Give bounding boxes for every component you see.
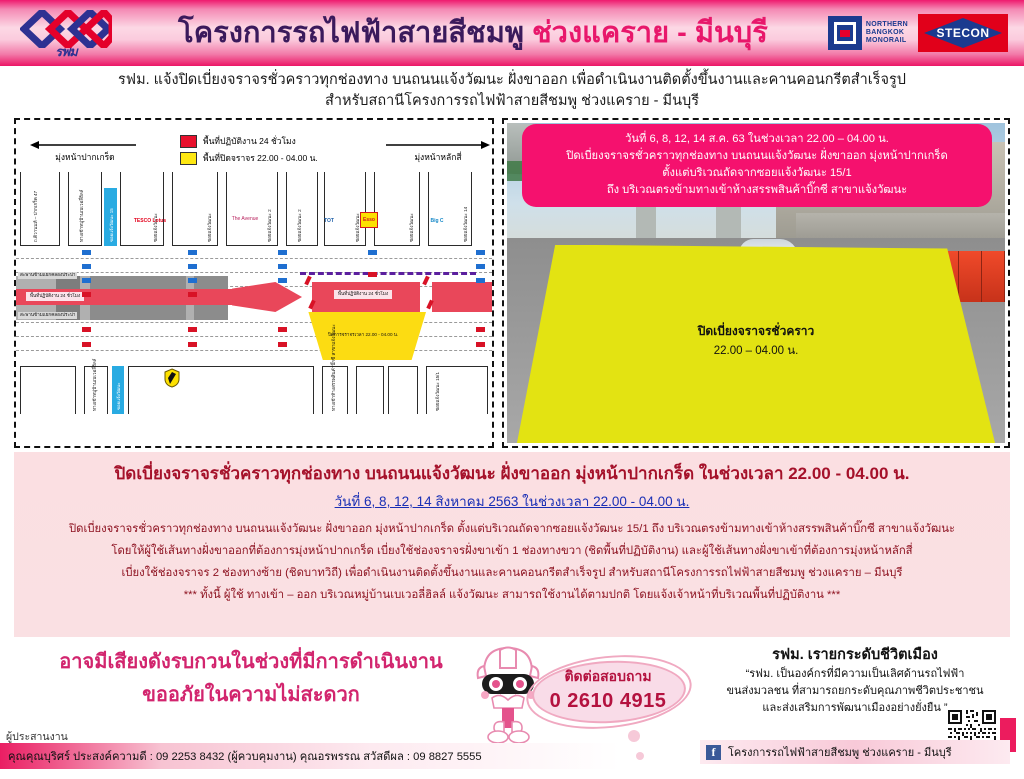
nbm-logo-text: NORTHERN BANGKOK MONORAIL — [866, 21, 908, 45]
nbm-line-2: BANGKOK — [866, 29, 908, 37]
shop-label-avenue: The Avenue — [224, 216, 266, 222]
announcement-page: รฟม โครงการรถไฟฟ้าสายสีชมพู ช่วงแคราย - … — [0, 0, 1024, 779]
mrta-logo: รฟม — [14, 4, 118, 62]
notice-body-line-3: เบี่ยงใช้ช่องจราจร 2 ช่องทางซ้าย (ชิดบาท… — [14, 563, 1010, 583]
map-block-top: ซอยแจ้งวัฒนะ — [324, 172, 366, 246]
street-label: ซอยแจ้งวัฒนะ 2 — [267, 209, 272, 242]
street-label: ซอยแจ้งวัฒนะ — [409, 213, 414, 242]
facebook-icon[interactable]: f — [706, 745, 721, 760]
photo-caption-line-1: ปิดเบี่ยงจราจรชั่วคราว — [507, 321, 1005, 341]
map-block-bottom: ซอยแจ้งวัฒนะ 15/1 — [426, 366, 488, 414]
traffic-arrow-red — [82, 292, 91, 297]
shop-label-bigc: Big C — [422, 218, 452, 224]
map-block-top: ซอยแจ้งวัฒนะ 2 — [286, 172, 318, 246]
traffic-arrow-red — [188, 327, 197, 332]
legend-swatch-yellow-icon — [180, 152, 197, 165]
map-block-bottom — [20, 366, 76, 414]
lane-divider — [16, 336, 492, 337]
street-label: ถ.ติวานนท์ – ปากเกร็ด 47 — [33, 191, 38, 242]
map-legend: มุ่งหน้าปากเกร็ด พื้นที่ปฏิบัติงาน 24 ชั… — [16, 126, 496, 170]
subtitle-block: รฟม. แจ้งปิดเบี่ยงจราจรชั่วคราวทุกช่องทา… — [0, 70, 1024, 112]
street-label: ซอยแจ้งวัฒนะ — [207, 213, 212, 242]
nbm-line-3: MONORAIL — [866, 37, 908, 45]
legend-item: พื้นที่ปฏิบัติงาน 24 ชั่วโมง — [180, 134, 318, 148]
shop-name: TOT — [324, 218, 334, 224]
callout-dot — [636, 752, 644, 760]
street-label: ทางเข้าหมู่บ้านเบเวอลี่ฮิลล์ — [92, 359, 97, 411]
traffic-arrow-red — [278, 342, 287, 347]
mrta-slogan-block: รฟม. เรายกระดับชีวิตเมือง “รฟม. เป็นองค์… — [700, 644, 1010, 717]
traffic-arrow-blue — [188, 278, 197, 283]
traffic-arrow-blue — [82, 264, 91, 269]
main-notice: ปิดเบี่ยงจราจรชั่วคราวทุกช่องทาง บนถนนแจ… — [14, 452, 1010, 637]
direction-left: มุ่งหน้าปากเกร็ด — [30, 140, 140, 164]
northern-bangkok-monorail-logo: NORTHERN BANGKOK MONORAIL — [828, 16, 908, 50]
coordinator-contact-line: คุณคุณบุริศร์ ประสงค์ความดี : 09 2253 84… — [0, 747, 482, 765]
median-label-upper: สะพานข้ามแยกคลองประปา — [18, 272, 77, 279]
traffic-arrow-red — [188, 292, 197, 297]
noise-warning-line-2: ขออภัยในความไม่สะดวก — [26, 679, 476, 712]
traffic-arrow-blue — [82, 278, 91, 283]
slogan-quote-line-2: ขนส่งมวลชน ที่สามารถยกระดับคุณภาพชีวิตปร… — [700, 683, 1010, 700]
arrow-left-icon — [30, 140, 140, 150]
coordinator-contact-bar: คุณคุณบุริศร์ ประสงค์ความดี : 09 2253 84… — [0, 743, 620, 769]
shop-name: Esso — [363, 217, 375, 223]
site-photo-panel: ปิดเบี่ยงจราจรชั่วคราว 22.00 – 04.00 น. … — [502, 118, 1010, 448]
map-block-bottom: ทางเข้าห้างสรรพสินค้าบิ๊กซี สาขาแจ้งวัฒน… — [322, 366, 348, 414]
street-label: ซอยแจ้งวัฒนะ 14 — [463, 207, 468, 242]
mrta-chevron-icon — [20, 10, 112, 48]
map-block-top: ซอยแจ้งวัฒนะ — [374, 172, 420, 246]
street-label: ทางเข้าหมู่บ้านเบเวอลี่ฮิลล์ — [79, 190, 84, 242]
legend-swatch-red-icon — [180, 135, 197, 148]
contact-phone-number[interactable]: 0 2610 4915 — [520, 689, 696, 714]
slogan-title: รฟม. เรายกระดับชีวิตเมือง — [700, 644, 1010, 666]
map-block-top: ซอยแจ้งวัฒนะ 2 — [226, 172, 278, 246]
legend-label: พื้นที่ปฏิบัติงาน 24 ชั่วโมง — [203, 134, 296, 148]
noise-warning-line-1: อาจมีเสียงดังรบกวนในช่วงที่มีการดำเนินงา… — [26, 646, 476, 679]
map-block-top: ซอยแจ้งวัฒนะ — [172, 172, 218, 246]
traffic-arrow-red — [476, 327, 485, 332]
traffic-arrow-blue — [188, 250, 197, 255]
median-label-lower: สะพานข้ามแยกคลองประปา — [18, 312, 77, 319]
notice-dateline: วันที่ 6, 8, 12, 14 สิงหาคม 2563 ในช่วงเ… — [14, 487, 1010, 517]
subtitle-line-2: สำหรับสถานีโครงการรถไฟฟ้าสายสีชมพู ช่วงแ… — [0, 91, 1024, 112]
nbm-line-1: NORTHERN — [866, 21, 908, 29]
traffic-arrow-blue — [278, 250, 287, 255]
page-header: รฟม โครงการรถไฟฟ้าสายสีชมพู ช่วงแคราย - … — [0, 0, 1024, 66]
notice-body-line-2: โดยให้ผู้ใช้เส้นทางฝั่งขาออกที่ต้องการมุ… — [14, 541, 1010, 561]
zone-tag-left: พื้นที่ปฏิบัติงาน 24 ชั่วโมง — [26, 292, 84, 301]
shop-label-tot: TOT — [312, 218, 346, 224]
stecon-logo-text: STECON — [936, 26, 989, 40]
traffic-arrow-blue — [476, 278, 485, 283]
subtitle-line-1: รฟม. แจ้งปิดเบี่ยงจราจรชั่วคราวทุกช่องทา… — [0, 70, 1024, 91]
legend-item: พื้นที่ปิดจราจร 22.00 - 04.00 น. — [180, 151, 318, 165]
traffic-map-panel: มุ่งหน้าปากเกร็ด พื้นที่ปฏิบัติงาน 24 ชั… — [14, 118, 494, 448]
street-label: ซอยแจ้งวัฒนะ — [116, 382, 121, 410]
lane-divider — [16, 350, 492, 351]
traffic-cone-icon — [422, 276, 429, 286]
street-label: ทางเข้าห้างสรรพสินค้าบิ๊กซี สาขาแจ้งวัฒน… — [331, 324, 336, 411]
notice-body-line-4: *** ทั้งนี้ ผู้ใช้ ทางเข้า – ออก บริเวณห… — [14, 585, 1010, 605]
legend-label: พื้นที่ปิดจราจร 22.00 - 04.00 น. — [203, 151, 318, 165]
map-drawing: ถ.ติวานนท์ – ปากเกร็ด 47 ทางเข้าหมู่บ้าน… — [16, 172, 492, 446]
arrow-right-icon — [386, 140, 490, 150]
slogan-quote-line-1: “รฟม. เป็นองค์กรที่มีความเป็นเลิศด้านรถไ… — [700, 666, 1010, 683]
traffic-cone-icon — [304, 276, 311, 286]
map-block-bottom — [388, 366, 418, 414]
street-label: ซอยแจ้งวัฒนะ 15/1 — [435, 372, 440, 411]
map-block-bottom: ทางเข้าหมู่บ้านเบเวอลี่ฮิลล์ — [84, 366, 108, 414]
facebook-page-label[interactable]: โครงการรถไฟฟ้าสายสีชมพู ช่วงแคราย - มีนบ… — [728, 743, 952, 761]
closure-info-line-1: วันที่ 6, 8, 12, 14 ส.ค. 63 ในช่วงเวลา 2… — [532, 131, 982, 148]
direction-right-label: มุ่งหน้าหลักสี่ — [386, 150, 490, 164]
map-cyan-marker: ซอยแจ้งวัฒนะ — [112, 366, 124, 414]
photo-caption: ปิดเบี่ยงจราจรชั่วคราว 22.00 – 04.00 น. — [507, 321, 1005, 361]
traffic-arrow-red — [368, 272, 377, 277]
notice-body-line-1: ปิดเบี่ยงจราจรชั่วคราวทุกช่องทาง บนถนนแจ… — [14, 519, 1010, 539]
street-label: ซอยแจ้งวัฒนะ 15 — [109, 208, 114, 242]
traffic-arrow-red — [188, 342, 197, 347]
callout-dot — [628, 730, 640, 742]
closure-info-line-2: ปิดเบี่ยงจราจรชั่วคราวทุกช่องทาง บนถนนแจ… — [532, 148, 982, 165]
traffic-arrow-blue — [278, 264, 287, 269]
map-block-top: ซอยแจ้งวัฒนะ 14 — [428, 172, 472, 246]
shop-label-esso: Esso — [360, 212, 378, 228]
traffic-arrow-blue — [82, 250, 91, 255]
map-block-top: ถ.ติวานนท์ – ปากเกร็ด 47 — [20, 172, 60, 246]
traffic-arrow-red — [82, 342, 91, 347]
noise-warning: อาจมีเสียงดังรบกวนในช่วงที่มีการดำเนินงา… — [26, 646, 476, 712]
legend-items: พื้นที่ปฏิบัติงาน 24 ชั่วโมง พื้นที่ปิดจ… — [180, 134, 318, 168]
direction-right: มุ่งหน้าหลักสี่ — [386, 140, 490, 164]
closure-zone-label: ปิดการจราจรเวลา 22.00 - 04.00 น. — [328, 332, 398, 339]
street-label: ซอยแจ้งวัฒนะ 2 — [297, 209, 302, 242]
map-block-top: ทางเข้าหมู่บ้านเบเวอลี่ฮิลล์ — [68, 172, 102, 246]
contact-label: ติดต่อสอบถาม — [520, 664, 696, 689]
facebook-row[interactable]: f โครงการรถไฟฟ้าสายสีชมพู ช่วงแคราย - มี… — [700, 740, 1010, 764]
traffic-arrow-blue — [476, 250, 485, 255]
closure-info-box: วันที่ 6, 8, 12, 14 ส.ค. 63 ในช่วงเวลา 2… — [522, 124, 992, 207]
direction-left-label: มุ่งหน้าปากเกร็ด — [30, 150, 140, 164]
notice-headline: ปิดเบี่ยงจราจรชั่วคราวทุกช่องทาง บนถนนแจ… — [14, 461, 1010, 487]
closure-info-line-4: ถึง บริเวณตรงข้ามทางเข้าห้างสรรพสินค้าบิ… — [532, 182, 982, 199]
stecon-logo: STECON — [918, 14, 1008, 52]
nbm-mark-icon — [828, 16, 862, 50]
shop-name: Big C — [430, 218, 443, 224]
traffic-arrow-red — [82, 327, 91, 332]
traffic-arrow-blue — [368, 250, 377, 255]
traffic-arrow-red — [278, 327, 287, 332]
page-title: โครงการรถไฟฟ้าสายสีชมพู ช่วงแคราย - มีนบ… — [118, 16, 828, 50]
traffic-arrow-blue — [188, 264, 197, 269]
shop-name: The Avenue — [232, 216, 259, 222]
school-crest-icon — [164, 368, 180, 388]
work-zone-red-right — [432, 282, 492, 312]
page-title-main: โครงการรถไฟฟ้าสายสีชมพู — [178, 17, 524, 49]
shop-label-tesco: TESCO Lotus — [128, 218, 172, 224]
map-block-top: ซอยแจ้งวัฒนะ — [120, 172, 164, 246]
traffic-arrow-red — [476, 342, 485, 347]
lane-divider — [16, 258, 492, 259]
footer-section: อาจมีเสียงดังรบกวนในช่วงที่มีการดำเนินงา… — [0, 640, 1024, 779]
contact-callout: ติดต่อสอบถาม 0 2610 4915 — [520, 654, 696, 730]
map-cyan-marker: ซอยแจ้งวัฒนะ 15 — [104, 188, 117, 246]
zone-tag-right: พื้นที่ปฏิบัติงาน 24 ชั่วโมง — [334, 290, 392, 299]
stecon-diamond-icon: STECON — [924, 18, 1002, 48]
map-block-bottom — [356, 366, 384, 414]
traffic-arrow-blue — [476, 264, 485, 269]
photo-caption-line-2: 22.00 – 04.00 น. — [507, 341, 1005, 361]
page-title-segment: ช่วงแคราย - มีนบุรี — [532, 17, 768, 49]
closure-info-line-3: ตั้งแต่บริเวณถัดจากซอยแจ้งวัฒนะ 15/1 — [532, 165, 982, 182]
shop-name: TESCO Lotus — [134, 218, 166, 224]
detour-dashed-line — [300, 272, 476, 275]
traffic-arrow-blue — [278, 278, 287, 283]
contact-text: ติดต่อสอบถาม 0 2610 4915 — [520, 654, 696, 714]
map-block-bottom — [128, 366, 314, 414]
